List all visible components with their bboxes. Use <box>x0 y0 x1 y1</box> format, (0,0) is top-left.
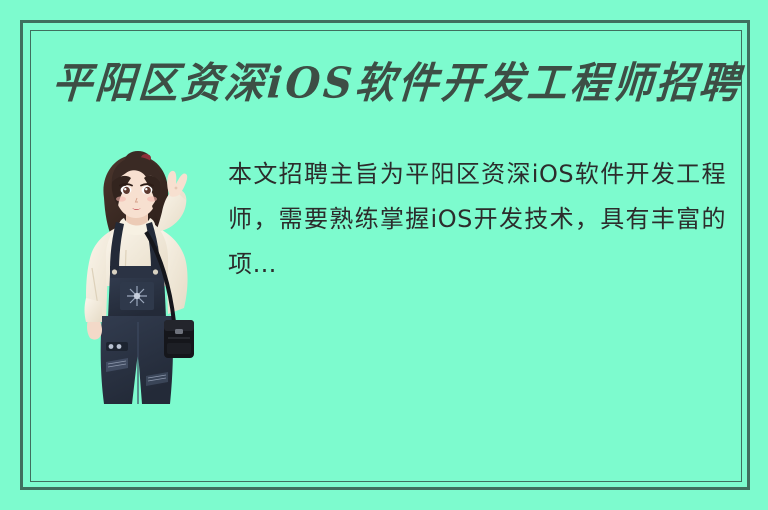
article-summary: 本文招聘主旨为平阳区资深iOS软件开发工程师，需要熟练掌握iOS开发技术，具有丰… <box>228 152 726 287</box>
illustration-figure <box>76 146 201 404</box>
girl-illustration-icon <box>76 146 201 404</box>
article-body: 本文招聘主旨为平阳区资深iOS软件开发工程师，需要熟练掌握iOS开发技术，具有丰… <box>48 128 734 470</box>
article-title: 平阳区资深iOS软件开发工程师招聘 <box>50 56 714 117</box>
article-card: 平阳区资深iOS软件开发工程师招聘 <box>0 0 768 510</box>
